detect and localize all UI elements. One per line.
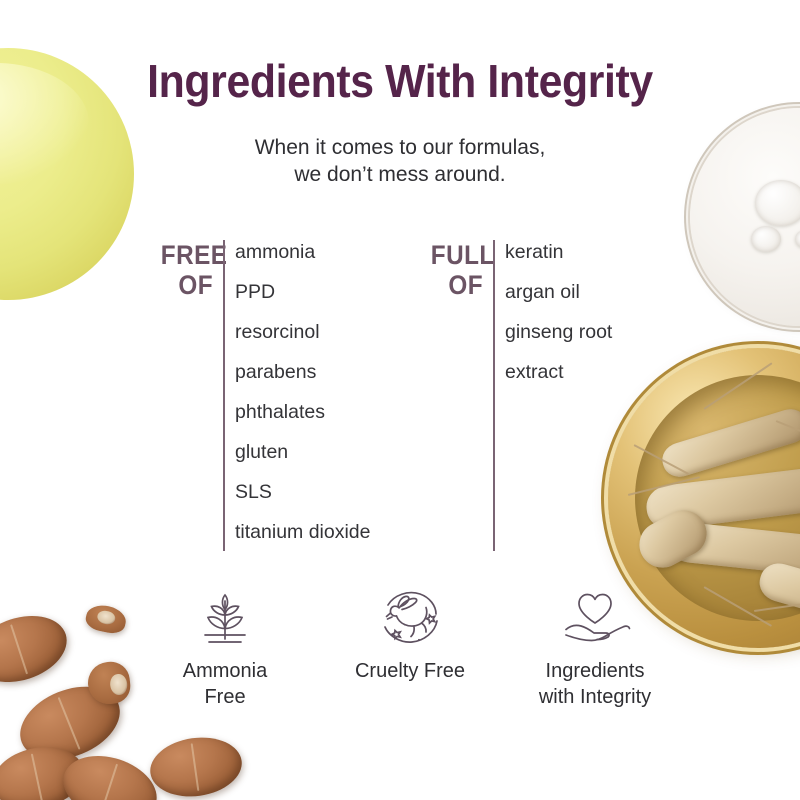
full-of-heading: FULL OF: [431, 240, 483, 300]
list-item: ginseng root: [505, 316, 612, 356]
full-of-divider: [493, 240, 495, 551]
badge-label-line-2: Free: [135, 684, 315, 710]
full-of-heading-line-2: OF: [431, 270, 483, 300]
free-of-heading-line-1: FREE: [161, 240, 213, 270]
free-of-list: ammonia PPD resorcinol parabens phthalat…: [235, 236, 371, 556]
list-item: resorcinol: [235, 316, 371, 356]
badge-ingredients-with-integrity: Ingredients with Integrity: [505, 582, 685, 710]
free-of-heading: FREE OF: [161, 240, 213, 300]
ingredients-with-integrity-panel: Ingredients With Integrity When it comes…: [0, 0, 800, 800]
list-item: gluten: [235, 436, 371, 476]
page-title: Ingredients With Integrity: [28, 54, 772, 108]
list-item: ammonia: [235, 236, 371, 276]
list-item: titanium dioxide: [235, 516, 371, 556]
leaping-bunny-icon: [320, 582, 500, 654]
list-item: SLS: [235, 476, 371, 516]
full-of-list: keratin argan oil ginseng root extract: [505, 236, 612, 396]
plant-sprout-icon: [135, 582, 315, 654]
badge-cruelty-free: Cruelty Free: [320, 582, 500, 684]
subtitle: When it comes to our formulas, we don’t …: [0, 134, 800, 188]
list-item: PPD: [235, 276, 371, 316]
badge-label: Cruelty Free: [320, 658, 500, 684]
free-of-divider: [223, 240, 225, 551]
subtitle-line-1: When it comes to our formulas,: [0, 134, 800, 161]
badge-label: Ammonia Free: [135, 658, 315, 710]
subtitle-line-2: we don’t mess around.: [0, 161, 800, 188]
full-of-heading-line-1: FULL: [431, 240, 483, 270]
badge-ammonia-free: Ammonia Free: [135, 582, 315, 710]
list-item: extract: [505, 356, 612, 396]
list-item: keratin: [505, 236, 612, 276]
badge-label-line-1: Ingredients: [546, 660, 645, 682]
list-item: parabens: [235, 356, 371, 396]
badge-label-line-1: Ammonia: [183, 660, 267, 682]
list-item: phthalates: [235, 396, 371, 436]
hand-holding-heart-icon: [505, 582, 685, 654]
list-item: argan oil: [505, 276, 612, 316]
badge-label: Ingredients with Integrity: [505, 658, 685, 710]
badge-label-line-2: with Integrity: [505, 684, 685, 710]
badge-label-line-1: Cruelty Free: [355, 660, 465, 682]
free-of-heading-line-2: OF: [161, 270, 213, 300]
